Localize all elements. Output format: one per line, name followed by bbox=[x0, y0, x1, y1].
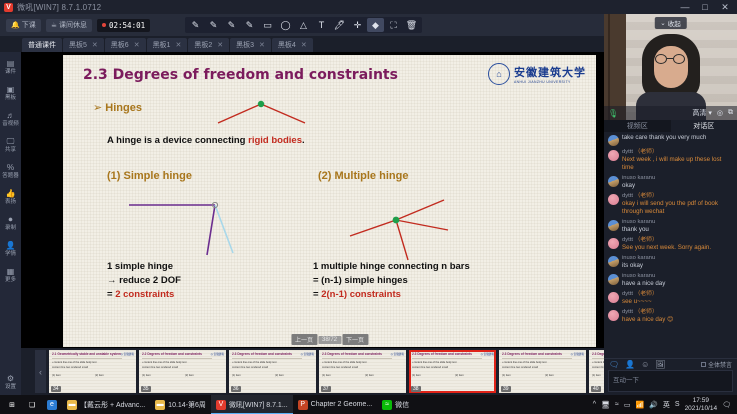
thumbnail-number: 36 bbox=[231, 386, 241, 392]
slide-thumbnail[interactable]: 2.2 Degrees of freedom and constraints◎ … bbox=[139, 350, 226, 393]
sidebar-item-label: 设置 bbox=[5, 384, 16, 390]
sidebar-item-label: 录制 bbox=[5, 225, 16, 231]
taskbar-item-label: Chapter 2 Geome... bbox=[311, 401, 372, 408]
document-tab-3[interactable]: 黑板1✕ bbox=[147, 38, 188, 52]
start-button[interactable]: ⊞ bbox=[2, 395, 22, 414]
chat-message-body: dyttt （老师）okay i will send you the pdf o… bbox=[622, 193, 733, 216]
microphone-icon[interactable]: 🎙 bbox=[608, 109, 618, 118]
video-quality-label: 高清 bbox=[692, 110, 706, 117]
slide-title: 2.3 Degrees of freedom and constraints bbox=[83, 67, 398, 83]
taskbar-clock[interactable]: 17:592021/10/14 bbox=[685, 397, 718, 413]
eraser-icon[interactable]: ◆ bbox=[367, 18, 384, 32]
sidebar-item-label: 更多 bbox=[5, 277, 16, 283]
class-timer: 02:54:01 bbox=[97, 19, 150, 32]
thumbnail-number: 40 bbox=[591, 386, 601, 392]
taskbar-item[interactable]: V微吼[WIN7] 8.7.1... bbox=[211, 395, 293, 414]
chat-message-text: okay i will send you the pdf of book thr… bbox=[622, 200, 733, 216]
image-icon[interactable]: 🖼 bbox=[655, 360, 665, 369]
video-door bbox=[604, 14, 626, 120]
vhall-icon: V bbox=[216, 400, 226, 410]
bell-icon: 🔔 bbox=[11, 21, 20, 29]
chat-sender-name: dyttt （老师） bbox=[622, 193, 733, 200]
tab-close-icon[interactable]: ✕ bbox=[259, 41, 265, 49]
document-tab-6[interactable]: 黑板4✕ bbox=[272, 38, 313, 52]
sentence-highlight: rigid bodies bbox=[248, 135, 302, 146]
tray-monitor-icon[interactable]: 🖥 bbox=[601, 401, 610, 409]
chat-message-text: Next week , i will make up these lost ti… bbox=[622, 156, 733, 172]
taskbar-item-label: 微吼[WIN7] 8.7.1... bbox=[229, 400, 288, 410]
document-tab-0[interactable]: 普通课件 bbox=[22, 38, 62, 52]
thumbnail-logo-icon: ◎ 安徽建筑 bbox=[481, 352, 494, 356]
windows-taskbar: ⊞ ❏ e▬【戴云彤 + Advanc...▬10.14-第6周V微吼[WIN7… bbox=[0, 395, 737, 414]
sentence-part-2: . bbox=[302, 135, 305, 146]
sidebar-item-3[interactable]: 🖵共享 bbox=[0, 132, 21, 158]
person-face bbox=[654, 46, 688, 88]
select-icon[interactable]: ⛶ bbox=[385, 18, 402, 32]
chat-message: dyttt （老师）have a nice day 😊 bbox=[608, 309, 733, 324]
chat-message-body: dyttt （老师）Next week , i will make up the… bbox=[622, 149, 733, 172]
taskbar-item[interactable]: ≈微信 bbox=[377, 395, 414, 414]
chat-message-text: take care thank you very much bbox=[622, 134, 733, 142]
tray-wechat-icon[interactable]: ≈ bbox=[615, 401, 619, 408]
app-title: 微吼[WIN7] 8.7.1.0712 bbox=[17, 2, 101, 13]
right-panel-tabs: 视频区对话区 bbox=[604, 120, 737, 132]
sidebar-item-6[interactable]: ⏺录制 bbox=[0, 210, 21, 236]
tab-label: 黑板3 bbox=[236, 40, 254, 50]
tab-label: 普通课件 bbox=[28, 40, 56, 50]
slide-thumbnail[interactable]: 2.3 Degrees of freedom and constraints◎ … bbox=[409, 350, 496, 393]
hinge-sketch-top bbox=[213, 97, 323, 131]
chat-message-body: inuso karanu have a nice day bbox=[622, 273, 733, 288]
folder-icon: ▬ bbox=[155, 400, 165, 410]
university-name-cn: 安徽建筑大学 bbox=[514, 64, 586, 80]
chat-message-body: take care thank you very much bbox=[622, 134, 733, 146]
slide-subheading-simple-hinge: (1) Simple hinge bbox=[107, 170, 192, 182]
wechat-icon: ≈ bbox=[382, 400, 392, 410]
thumbnail-title: 2.3 Degrees of freedom and constraints bbox=[502, 352, 562, 356]
chat-message-text: have a nice day 😊 bbox=[622, 316, 733, 324]
break-button[interactable]: ☕ 课间休息 bbox=[46, 19, 92, 32]
chat-message: inuso karanu thank you bbox=[608, 219, 733, 234]
clock-date: 2021/10/14 bbox=[685, 405, 718, 413]
chat-sender-name: inuso karanu bbox=[622, 175, 733, 182]
slide-sentence: A hinge is a device connecting rigid bod… bbox=[107, 135, 305, 146]
quiz-icon: % bbox=[7, 164, 14, 172]
pen-medium-icon[interactable]: ✎ bbox=[205, 18, 222, 32]
sidebar-item-label: 黑板 bbox=[5, 95, 16, 101]
gear-icon: ⚙ bbox=[7, 375, 14, 383]
chat-sender-name: inuso karanu bbox=[622, 219, 733, 226]
tab-close-icon[interactable]: ✕ bbox=[134, 41, 140, 49]
sidebar-item-settings[interactable]: ⚙ 设置 bbox=[0, 369, 21, 395]
chat-sender-name: dyttt （老师） bbox=[622, 149, 733, 156]
thumbnail-logo-icon: ◎ 安徽建筑 bbox=[211, 352, 224, 356]
sidebar-item-8[interactable]: ▦更多 bbox=[0, 262, 21, 288]
sidebar-item-4[interactable]: %答题器 bbox=[0, 158, 21, 184]
thumbnail-number: 37 bbox=[321, 386, 331, 392]
tray-volume-icon[interactable]: 🔊 bbox=[649, 401, 658, 409]
avatar bbox=[608, 274, 619, 285]
multiple-hinge-line-1: 1 multiple hinge connecting n bars bbox=[313, 260, 470, 274]
tab-close-icon[interactable]: ✕ bbox=[301, 41, 307, 49]
sidebar-item-label: 音视频 bbox=[2, 121, 19, 127]
popout-icon[interactable]: ⧉ bbox=[728, 109, 733, 117]
chat-message-body: dyttt （老师）have a nice day 😊 bbox=[622, 309, 733, 324]
left-sidebar: ▤课件▣黑板♬音视频🖵共享%答题器👍表扬⏺录制👤学情▦更多 ⚙ 设置 bbox=[0, 52, 21, 395]
chat-message-text: have a nice day bbox=[622, 280, 733, 288]
chat-message: inuso karanu okay bbox=[608, 175, 733, 190]
avatar bbox=[608, 238, 619, 249]
record-icon: ⏺ bbox=[9, 216, 13, 224]
chat-sender-name: dyttt （老师） bbox=[622, 291, 733, 298]
tab-label: 黑板5 bbox=[69, 40, 87, 50]
chat-message-text: See you next week. Sorry again. bbox=[622, 244, 733, 252]
student-stats-icon: 👤 bbox=[6, 242, 16, 250]
chat-sender-role: （老师） bbox=[635, 237, 658, 243]
thumbnail-title: 2.1 Geometrically stable and unstable sy… bbox=[52, 352, 121, 356]
maximize-button[interactable]: □ bbox=[695, 0, 715, 14]
windows-start-icon: ⊞ bbox=[7, 400, 17, 410]
presentation-stage: 2.3 Degrees of freedom and constraints ⌂… bbox=[21, 52, 604, 395]
document-tab-4[interactable]: 黑板2✕ bbox=[188, 38, 229, 52]
video-quality-selector[interactable]: 高清 ▾ bbox=[692, 108, 711, 118]
slide-subheading-multiple-hinge: (2) Multiple hinge bbox=[318, 170, 408, 182]
chat-message-body: dyttt （老师）see u~~~~ bbox=[622, 291, 733, 306]
camera-icon[interactable]: ◎ bbox=[717, 109, 723, 117]
thumbnail-logo-icon: ◎ 安徽建筑 bbox=[301, 352, 314, 356]
next-page-button[interactable]: 下一页 bbox=[342, 334, 368, 345]
chat-message-body: inuso karanu its okay bbox=[622, 255, 733, 270]
thumbnails-prev-button[interactable]: ‹ bbox=[35, 350, 46, 393]
sidebar-item-label: 共享 bbox=[5, 147, 16, 153]
slide-thumbnail[interactable]: 2.3 Degrees of freedom and constraints◎ … bbox=[229, 350, 316, 393]
window-controls: — □ ✕ bbox=[675, 0, 735, 14]
university-logo: ⌂ 安徽建筑大学 ANHUI JIANZHU UNIVERSITY bbox=[488, 63, 586, 85]
thumbnail-number: 38 bbox=[411, 386, 421, 392]
tab-label: 黑板1 bbox=[153, 40, 171, 50]
simple-hinge-result: 2 constraints bbox=[115, 289, 174, 300]
task-view-button[interactable]: ❏ bbox=[22, 395, 42, 414]
avatar bbox=[608, 256, 619, 267]
taskbar-item[interactable]: ▬【戴云彤 + Advanc... bbox=[62, 395, 150, 414]
chevron-down-icon: ⌄ bbox=[660, 19, 665, 27]
praise-thumbup-icon: 👍 bbox=[6, 190, 16, 198]
chat-sender-role: （老师） bbox=[635, 291, 658, 297]
av-icon: ♬ bbox=[7, 112, 15, 120]
taskbar-item-label: 微信 bbox=[395, 400, 409, 410]
glasses-bridge bbox=[667, 58, 673, 59]
checkbox-icon bbox=[701, 362, 706, 367]
chat-sender-role: （老师） bbox=[635, 193, 658, 199]
thumbnail-title: 2.2 Degrees of freedom and constraints bbox=[142, 352, 202, 356]
thumbnail-number: 39 bbox=[501, 386, 511, 392]
multiple-hinge-text-block: 1 multiple hinge connecting n bars = (n-… bbox=[313, 260, 470, 302]
tray-chevron-icon[interactable]: ^ bbox=[593, 401, 596, 408]
slide-thumbnail[interactable]: 2.1 Geometrically stable and unstable sy… bbox=[49, 350, 136, 393]
taskbar-item-label: 【戴云彤 + Advanc... bbox=[80, 400, 145, 410]
triangle-icon[interactable]: △ bbox=[295, 18, 312, 32]
thumbnail-title: 2.3 Degrees of freedom and constraints bbox=[412, 352, 472, 356]
share-screen-icon: 🖵 bbox=[7, 138, 15, 146]
break-label: 课间休息 bbox=[59, 20, 87, 30]
slide-thumbnail[interactable]: 2.3 Degrees of freedom and constraints◎ … bbox=[319, 350, 406, 393]
avatar bbox=[608, 292, 619, 303]
simple-hinge-eq: = bbox=[107, 289, 115, 300]
chat-sender-name: dyttt （老师） bbox=[622, 237, 733, 244]
avatar bbox=[608, 220, 619, 231]
glasses-left-icon bbox=[655, 54, 667, 64]
sidebar-item-label: 表扬 bbox=[5, 199, 16, 205]
window-title-bar: V 微吼[WIN7] 8.7.1.0712 — □ ✕ bbox=[0, 0, 737, 14]
sidebar-item-5[interactable]: 👍表扬 bbox=[0, 184, 21, 210]
system-tray: ^🖥≈▭📶🔊英S17:592021/10/14🗨 bbox=[593, 397, 735, 413]
chat-input-toolbar: 🗨 👤 ☺ 🖼 全体禁言 bbox=[604, 358, 737, 370]
courseware-icon: ▤ bbox=[7, 60, 15, 68]
chat-message-body: inuso karanu okay bbox=[622, 175, 733, 190]
multiple-hinge-eq: = bbox=[313, 289, 321, 300]
glasses-right-icon bbox=[673, 54, 685, 64]
chat-message-text: its okay bbox=[622, 262, 733, 270]
tab-label: 黑板6 bbox=[111, 40, 129, 50]
slide-bullet-hinges: ➢ Hinges bbox=[93, 101, 142, 114]
task-view-icon: ❏ bbox=[27, 400, 37, 410]
simple-hinge-text-block: 1 simple hinge → reduce 2 DOF = 2 constr… bbox=[107, 260, 181, 302]
chat-message: inuso karanu have a nice day bbox=[608, 273, 733, 288]
more-grid-icon: ▦ bbox=[7, 268, 15, 276]
coffee-icon: ☕ bbox=[51, 21, 57, 29]
prev-page-button[interactable]: 上一页 bbox=[291, 334, 317, 345]
move-icon[interactable]: ✛ bbox=[349, 18, 366, 32]
app-logo-icon: V bbox=[4, 3, 13, 12]
chat-message-list[interactable]: take care thank you very muchdyttt （老师）N… bbox=[604, 132, 737, 358]
document-tab-5[interactable]: 黑板3✕ bbox=[230, 38, 271, 52]
simple-hinge-line-2: → reduce 2 DOF bbox=[107, 274, 181, 288]
recording-dot-icon bbox=[102, 23, 106, 27]
sidebar-item-7[interactable]: 👤学情 bbox=[0, 236, 21, 262]
teacher-video-tile[interactable]: ⌄ 收起 🎙 高清 ▾ ◎ ⧉ bbox=[604, 14, 737, 120]
sidebar-item-label: 答题器 bbox=[2, 173, 19, 179]
avatar bbox=[608, 194, 619, 205]
chat-message: dyttt （老师）see u~~~~ bbox=[608, 291, 733, 306]
tab-close-icon[interactable]: ✕ bbox=[217, 41, 223, 49]
pen-thick-icon[interactable]: ✎ bbox=[223, 18, 240, 32]
document-tab-2[interactable]: 黑板6✕ bbox=[105, 38, 146, 52]
thumbnail-number: 34 bbox=[51, 386, 61, 392]
multiple-hinge-line-2: = (n-1) simple hinges bbox=[313, 274, 470, 288]
taskbar-item[interactable]: e bbox=[42, 395, 62, 414]
sidebar-item-label: 课件 bbox=[5, 69, 16, 75]
multiple-hinge-diagram bbox=[338, 190, 478, 270]
delete-icon[interactable]: 🗑 bbox=[403, 18, 420, 32]
blackboard-icon: ▣ bbox=[7, 86, 15, 94]
chat-message: take care thank you very much bbox=[608, 134, 733, 146]
tab-close-icon[interactable]: ✕ bbox=[92, 41, 98, 49]
pen-thin-icon[interactable]: ✎ bbox=[187, 18, 204, 32]
thumbnail-number: 35 bbox=[141, 386, 151, 392]
tray-wifi-icon[interactable]: 📶 bbox=[635, 401, 644, 409]
emoji-board-icon[interactable]: 🗨 bbox=[609, 360, 619, 369]
chat-message-text: thank you bbox=[622, 226, 733, 234]
tray-battery-icon[interactable]: ▭ bbox=[624, 401, 631, 409]
avatar bbox=[608, 150, 619, 161]
thumbnail-logo-icon: ◎ 安徽建筑 bbox=[391, 352, 404, 356]
page-indicator: 38/72 bbox=[318, 336, 341, 344]
slide-pager: 上一页 38/72 下一页 bbox=[291, 334, 368, 345]
taskbar-item-label: 10.14-第6周 bbox=[168, 400, 206, 410]
thumbnail-logo-icon: ◎ 安徽建筑 bbox=[121, 352, 134, 356]
avatar bbox=[608, 135, 619, 146]
simple-hinge-line-3: = 2 constraints bbox=[107, 288, 181, 302]
video-right-controls: 高清 ▾ ◎ ⧉ bbox=[692, 108, 733, 118]
right-tab-1[interactable]: 对话区 bbox=[671, 120, 737, 132]
thumbnail-title: 2.3 Degrees of freedom and constraints bbox=[322, 352, 382, 356]
tab-label: 黑板2 bbox=[194, 40, 212, 50]
slide-thumbnail[interactable]: 2.3 Degrees of freedom and constraints◎ … bbox=[499, 350, 586, 393]
simple-hinge-line-1: 1 simple hinge bbox=[107, 260, 181, 274]
video-control-bar: 🎙 高清 ▾ ◎ ⧉ bbox=[604, 106, 737, 120]
notification-icon[interactable]: 🗨 bbox=[722, 401, 731, 409]
chat-message: dyttt （老师）Next week , i will make up the… bbox=[608, 149, 733, 172]
edge-icon: e bbox=[47, 400, 57, 410]
highlighter-icon[interactable]: 🖊 bbox=[331, 18, 348, 32]
chat-message-text: okay bbox=[622, 182, 733, 190]
simple-hinge-diagram bbox=[123, 193, 273, 268]
video-collapse-button[interactable]: ⌄ 收起 bbox=[654, 17, 686, 29]
end-class-label: 下课 bbox=[22, 20, 36, 30]
university-seal-icon: ⌂ bbox=[488, 63, 510, 85]
tray-ime-icon[interactable]: 英 bbox=[663, 400, 670, 410]
powerpoint-icon: P bbox=[298, 400, 308, 410]
mute-all-label: 全体禁言 bbox=[708, 360, 732, 369]
chat-sender-role: （老师） bbox=[635, 149, 658, 155]
tray-sogou-icon[interactable]: S bbox=[675, 401, 680, 408]
thumbnail-title: 2.3 Degrees of freedom and constraints bbox=[232, 352, 292, 356]
end-class-button[interactable]: 🔔 下课 bbox=[6, 19, 41, 32]
video-collapse-label: 收起 bbox=[668, 18, 681, 28]
multiple-hinge-result: 2(n-1) constraints bbox=[321, 289, 401, 300]
chat-message: dyttt （老师）See you next week. Sorry again… bbox=[608, 237, 733, 252]
current-slide[interactable]: 2.3 Degrees of freedom and constraints ⌂… bbox=[63, 55, 596, 347]
avatar bbox=[608, 176, 619, 187]
emoji-icon[interactable]: ☺ bbox=[641, 360, 649, 369]
timer-value: 02:54:01 bbox=[109, 21, 145, 30]
university-name-en: ANHUI JIANZHU UNIVERSITY bbox=[514, 80, 586, 84]
chat-input[interactable]: 互动一下 bbox=[608, 370, 733, 392]
right-panel: ⌄ 收起 🎙 高清 ▾ ◎ ⧉ 视频区对话区 take care thank y… bbox=[604, 14, 737, 395]
pen-bold-icon[interactable]: ✎ bbox=[241, 18, 258, 32]
multiple-hinge-line-3: = 2(n-1) constraints bbox=[313, 288, 470, 302]
taskbar-item[interactable]: ▬10.14-第6周 bbox=[150, 395, 211, 414]
chat-message-body: inuso karanu thank you bbox=[622, 219, 733, 234]
ellipse-icon[interactable]: ◯ bbox=[277, 18, 294, 32]
sentence-part-1: A hinge is a device connecting bbox=[107, 135, 248, 146]
chat-sender-role: （老师） bbox=[635, 309, 658, 315]
chat-sender-name: inuso karanu bbox=[622, 255, 733, 262]
slide-thumbnail-strip: ‹2.1 Geometrically stable and unstable s… bbox=[21, 348, 604, 395]
folder-icon: ▬ bbox=[67, 400, 77, 410]
text-icon[interactable]: T bbox=[313, 18, 330, 32]
close-button[interactable]: ✕ bbox=[715, 0, 735, 14]
sidebar-item-1[interactable]: ▣黑板 bbox=[0, 80, 21, 106]
thumbnail-logo-icon: ◎ 安徽建筑 bbox=[571, 352, 584, 356]
mute-all-checkbox[interactable]: 全体禁言 bbox=[701, 360, 732, 369]
user-add-icon[interactable]: 👤 bbox=[625, 360, 635, 369]
chat-sender-name: dyttt （老师） bbox=[622, 309, 733, 316]
sidebar-item-label: 学情 bbox=[5, 251, 16, 257]
taskbar-item[interactable]: PChapter 2 Geome... bbox=[293, 395, 377, 414]
right-tab-0[interactable]: 视频区 bbox=[604, 120, 671, 132]
minimize-button[interactable]: — bbox=[675, 0, 695, 14]
chat-sender-name: inuso karanu bbox=[622, 273, 733, 280]
rectangle-icon[interactable]: ▭ bbox=[259, 18, 276, 32]
chat-message: inuso karanu its okay bbox=[608, 255, 733, 270]
sidebar-item-0[interactable]: ▤课件 bbox=[0, 54, 21, 80]
tab-close-icon[interactable]: ✕ bbox=[175, 41, 181, 49]
chat-message-text: see u~~~~ bbox=[622, 298, 733, 306]
document-tab-1[interactable]: 黑板5✕ bbox=[63, 38, 104, 52]
sidebar-item-2[interactable]: ♬音视频 bbox=[0, 106, 21, 132]
tab-label: 黑板4 bbox=[278, 40, 296, 50]
clock-time: 17:59 bbox=[685, 397, 718, 405]
chat-message: dyttt （老师）okay i will send you the pdf o… bbox=[608, 193, 733, 216]
drawing-tools-group: ✎✎✎✎▭◯△T🖊✛◆⛶🗑 bbox=[185, 17, 422, 33]
avatar bbox=[608, 310, 619, 321]
chat-message-body: dyttt （老师）See you next week. Sorry again… bbox=[622, 237, 733, 252]
